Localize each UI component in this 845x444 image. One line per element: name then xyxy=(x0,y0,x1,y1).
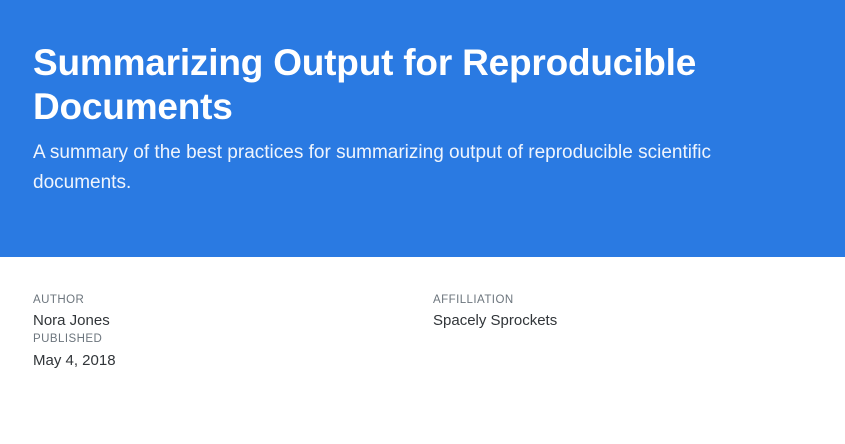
title-banner-inner: Summarizing Output for Reproducible Docu… xyxy=(33,41,793,197)
author-value: Nora Jones xyxy=(33,310,433,332)
published-label: PUBLISHED xyxy=(33,332,433,346)
affiliation-label: AFFILLIATION xyxy=(433,293,812,307)
metadata-column-left: AUTHOR Nora Jones PUBLISHED May 4, 2018 xyxy=(33,293,433,371)
author-label: AUTHOR xyxy=(33,293,433,307)
metadata-author-block: AUTHOR Nora Jones xyxy=(33,293,433,332)
metadata-published-block: PUBLISHED May 4, 2018 xyxy=(33,332,433,371)
metadata-column-right: AFFILLIATION Spacely Sprockets xyxy=(433,293,812,371)
metadata-grid: AUTHOR Nora Jones PUBLISHED May 4, 2018 … xyxy=(33,293,812,371)
document-metadata: AUTHOR Nora Jones PUBLISHED May 4, 2018 … xyxy=(0,257,845,371)
page-title: Summarizing Output for Reproducible Docu… xyxy=(33,41,723,128)
page-subtitle: A summary of the best practices for summ… xyxy=(33,138,793,197)
published-value: May 4, 2018 xyxy=(33,350,433,372)
document-page: Summarizing Output for Reproducible Docu… xyxy=(0,0,845,444)
affiliation-value: Spacely Sprockets xyxy=(433,310,812,332)
title-banner: Summarizing Output for Reproducible Docu… xyxy=(0,0,845,257)
metadata-affiliation-block: AFFILLIATION Spacely Sprockets xyxy=(433,293,812,332)
